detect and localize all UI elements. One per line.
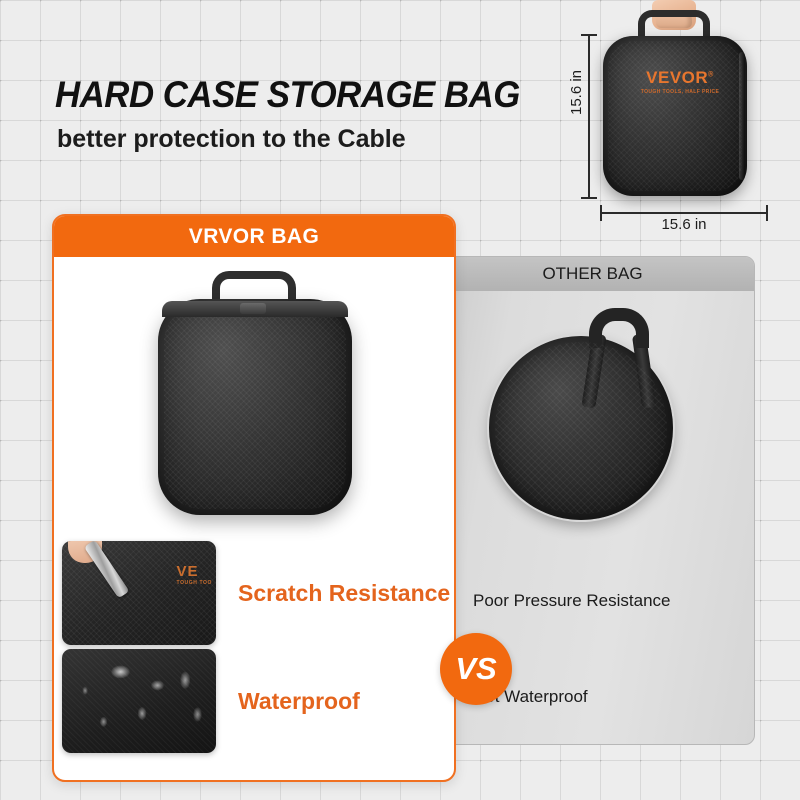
our-bag-header: VRVOR BAG: [54, 216, 454, 257]
vevor-registered-icon: ®: [708, 71, 714, 78]
feature-list: VE TOUGH TOO Scratch Resistance Waterpro…: [54, 539, 454, 782]
hero-vevor-logo: VEVOR® TOUGH TOOLS, HALF PRICE: [560, 68, 800, 95]
key-icon: [84, 541, 129, 598]
width-dimension-line: [600, 212, 768, 214]
our-bag-photo: [54, 257, 454, 539]
waterproof-test-photo: [62, 649, 216, 753]
other-bag-header: OTHER BAG: [431, 257, 754, 291]
hard-case-image: [158, 299, 352, 515]
feature-row-waterproof: Waterproof: [62, 647, 454, 755]
page-title: HARD CASE STORAGE BAG: [55, 76, 520, 113]
feature-label-scratch: Scratch Resistance: [238, 580, 450, 607]
other-bag-photo: [431, 291, 754, 569]
thumb-vevor-logo: VE TOUGH TOO: [177, 563, 213, 586]
hero-hard-case-image: [603, 36, 747, 196]
feature-label-waterproof: Waterproof: [238, 688, 360, 715]
other-claim-waterproof: Not Waterproof: [473, 687, 754, 707]
height-dimension-line: [588, 34, 590, 199]
poster-canvas: HARD CASE STORAGE BAG better protection …: [0, 0, 800, 800]
page-subtitle: better protection to the Cable: [57, 127, 406, 152]
round-soft-bag-image: [489, 336, 673, 520]
scratch-test-photo: VE TOUGH TOO: [62, 541, 216, 645]
thumb-vevor-text: VE: [177, 563, 199, 580]
vevor-tagline: TOUGH TOOLS, HALF PRICE: [560, 89, 800, 95]
width-dimension-label: 15.6 in: [600, 216, 768, 233]
our-bag-panel: VRVOR BAG VE TOUGH TOO Scratch Resistanc…: [52, 214, 456, 782]
vevor-wordmark: VEVOR®: [560, 68, 800, 88]
hero-product-figure: VEVOR® TOUGH TOOLS, HALF PRICE 15.6 in 1…: [560, 0, 800, 240]
thumb-vevor-tagline: TOUGH TOO: [177, 580, 213, 586]
round-bag-handle-arc: [589, 308, 649, 348]
other-claim-pressure: Poor Pressure Resistance: [473, 591, 754, 611]
vevor-brand-text: VEVOR: [646, 68, 708, 87]
feature-row-scratch: VE TOUGH TOO Scratch Resistance: [62, 539, 454, 647]
vs-badge: VS: [440, 633, 512, 705]
round-bag-handle-left: [581, 333, 606, 408]
case-zipper-pull-icon: [240, 303, 266, 314]
